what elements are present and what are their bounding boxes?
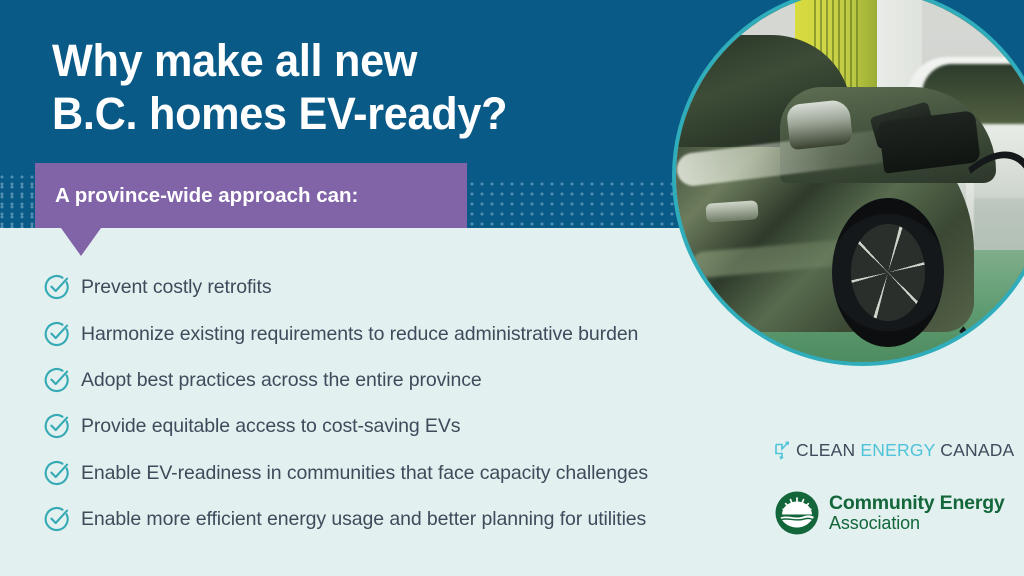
clean-energy-canada-mark-icon [774, 441, 791, 460]
community-energy-association-logo: Community Energy Association [775, 491, 1005, 535]
cec-word-canada: CANADA [935, 440, 1014, 460]
community-energy-association-sunburst-icon [775, 491, 819, 535]
list-item: Adopt best practices across the entire p… [44, 357, 764, 403]
ev-charging-photo [672, 0, 1024, 366]
photo-inner [676, 0, 1024, 362]
list-item-label: Provide equitable access to cost-saving … [81, 414, 460, 438]
cea-line-2: Association [829, 514, 1005, 532]
left-dot-pattern [0, 175, 36, 228]
check-circle-icon [44, 413, 70, 439]
clean-energy-canada-wordmark: CLEAN ENERGY CANADA [796, 440, 1014, 461]
cec-word-energy: ENERGY [860, 440, 935, 460]
clean-energy-canada-logo: CLEAN ENERGY CANADA [774, 440, 1014, 461]
check-circle-icon [44, 506, 70, 532]
callout-box: A province-wide approach can: [35, 163, 467, 228]
check-circle-icon [44, 460, 70, 486]
list-item-label: Prevent costly retrofits [81, 275, 272, 299]
list-item: Harmonize existing requirements to reduc… [44, 310, 764, 356]
check-circle-icon [44, 367, 70, 393]
check-circle-icon [44, 321, 70, 347]
list-item-label: Harmonize existing requirements to reduc… [81, 322, 638, 346]
list-item-label: Enable more efficient energy usage and b… [81, 507, 646, 531]
list-item-label: Adopt best practices across the entire p… [81, 368, 482, 392]
list-item: Prevent costly retrofits [44, 264, 764, 310]
cea-line-1: Community Energy [829, 494, 1005, 514]
community-energy-association-wordmark: Community Energy Association [829, 494, 1005, 532]
list-item: Enable more efficient energy usage and b… [44, 496, 764, 542]
list-item-label: Enable EV-readiness in communities that … [81, 461, 648, 485]
benefits-checklist: Prevent costly retrofits Harmonize exist… [44, 264, 764, 542]
infographic-poster: Why make all new B.C. homes EV-ready? A … [0, 0, 1024, 576]
photo-wheel-rim [851, 224, 925, 321]
list-item: Enable EV-readiness in communities that … [44, 450, 764, 496]
callout-tail [61, 228, 101, 256]
cec-word-clean: CLEAN [796, 440, 860, 460]
callout-label: A province-wide approach can: [55, 163, 358, 228]
check-circle-icon [44, 274, 70, 300]
page-title: Why make all new B.C. homes EV-ready? [52, 34, 507, 140]
photo-side-mirror [785, 98, 853, 149]
list-item: Provide equitable access to cost-saving … [44, 403, 764, 449]
photo-door-handle [705, 200, 758, 222]
